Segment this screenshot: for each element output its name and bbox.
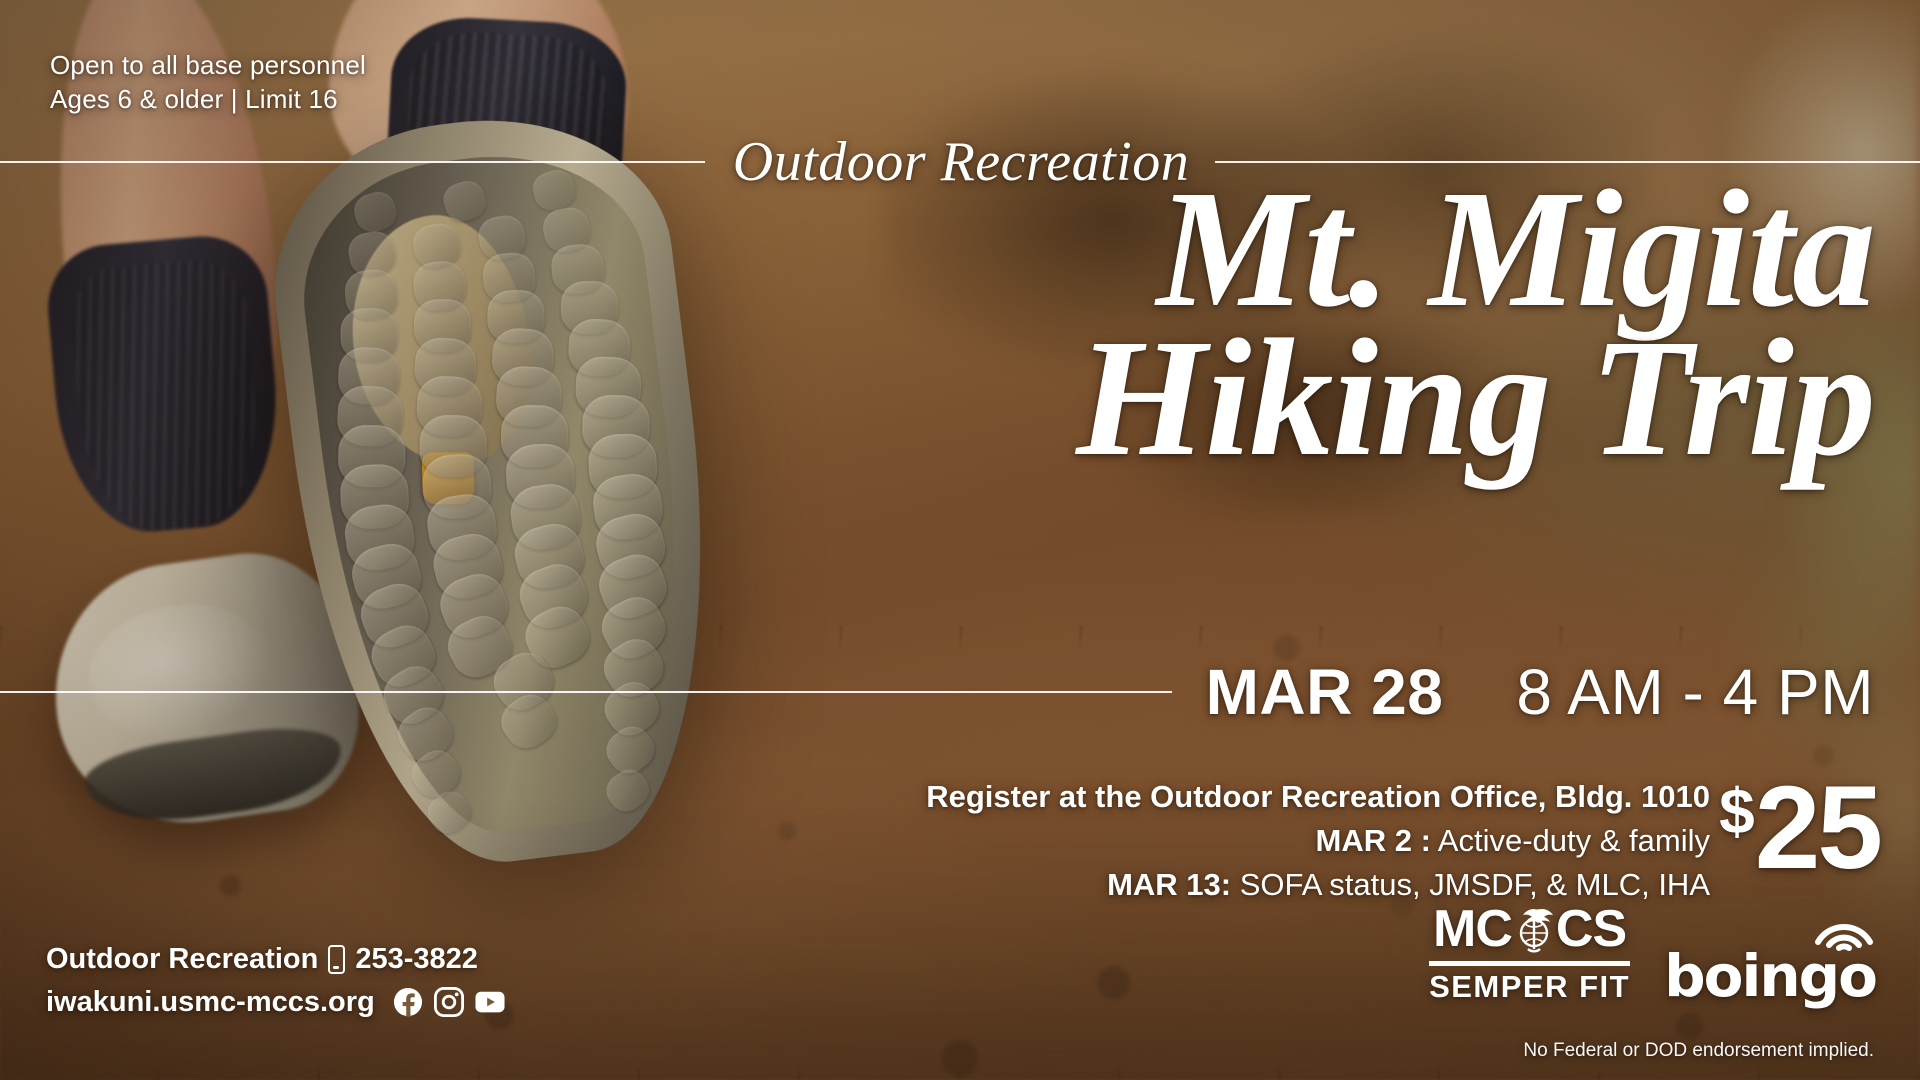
date-time-text: MAR 28 8 AM - 4 PM xyxy=(1206,655,1874,729)
registration-window-1-label: MAR 2 : xyxy=(1316,823,1431,858)
social-links xyxy=(393,987,505,1017)
registration-details: Register at the Outdoor Recreation Offic… xyxy=(926,775,1710,907)
youtube-icon[interactable] xyxy=(475,987,505,1017)
endorsement-disclaimer: No Federal or DOD endorsement implied. xyxy=(1523,1040,1874,1062)
contact-phone-row: Outdoor Recreation 253-3822 xyxy=(46,940,505,979)
facebook-icon[interactable] xyxy=(393,987,423,1017)
page-title: Mt. Migita Hiking Trip xyxy=(1076,172,1874,475)
price-currency-symbol: $ xyxy=(1719,784,1755,838)
phone-icon xyxy=(328,945,345,974)
boingo-wordmark: boingo xyxy=(1664,950,1876,1002)
contact-website[interactable]: iwakuni.usmc-mccs.org xyxy=(46,983,375,1022)
date-time-row: MAR 28 8 AM - 4 PM xyxy=(0,655,1874,729)
wifi-icon xyxy=(1808,914,1880,954)
title-line-2: Hiking Trip xyxy=(1076,321,1874,476)
event-date: MAR 28 xyxy=(1206,656,1444,728)
registration-window-1-value: Active-duty & family xyxy=(1431,823,1710,858)
registration-window-2-value: SOFA status, JMSDF, & MLC, IHA xyxy=(1231,867,1710,902)
sponsor-logos: MC CS SEMPER FIT xyxy=(1429,903,1876,1002)
price-amount: 25 xyxy=(1755,778,1880,878)
mccs-tagline: SEMPER FIT xyxy=(1429,971,1630,1002)
registration-window-2-label: MAR 13: xyxy=(1107,867,1231,902)
mccs-wordmark-right: CS xyxy=(1556,903,1626,955)
registration-window-1: MAR 2 : Active-duty & family xyxy=(926,819,1710,863)
registration-location: Register at the Outdoor Recreation Offic… xyxy=(926,775,1710,819)
boingo-logo: boingo xyxy=(1664,950,1876,1002)
event-poster: Open to all base personnel Ages 6 & olde… xyxy=(0,0,1920,1080)
event-time: 8 AM - 4 PM xyxy=(1516,656,1874,728)
eligibility-note: Open to all base personnel Ages 6 & olde… xyxy=(50,48,366,117)
contact-info: Outdoor Recreation 253-3822 iwakuni.usmc… xyxy=(46,940,505,1022)
eagle-globe-anchor-icon xyxy=(1508,903,1560,955)
contact-org: Outdoor Recreation xyxy=(46,940,318,979)
eligibility-line-2: Ages 6 & older | Limit 16 xyxy=(50,82,366,116)
title-line-1: Mt. Migita xyxy=(1076,172,1874,327)
mccs-wordmark: MC CS xyxy=(1429,903,1630,955)
eligibility-line-1: Open to all base personnel xyxy=(50,48,366,82)
poster-content: Open to all base personnel Ages 6 & olde… xyxy=(0,0,1920,1080)
date-rule-left xyxy=(0,691,1172,693)
contact-web-row: iwakuni.usmc-mccs.org xyxy=(46,983,505,1022)
mccs-semper-fit-logo: MC CS SEMPER FIT xyxy=(1429,903,1630,1002)
price-badge: $ 25 xyxy=(1719,778,1880,878)
contact-phone-number[interactable]: 253-3822 xyxy=(355,940,478,979)
instagram-icon[interactable] xyxy=(434,987,464,1017)
mccs-wordmark-left: MC xyxy=(1433,903,1512,955)
kicker-rule-left xyxy=(0,161,705,163)
mccs-divider xyxy=(1429,961,1630,966)
